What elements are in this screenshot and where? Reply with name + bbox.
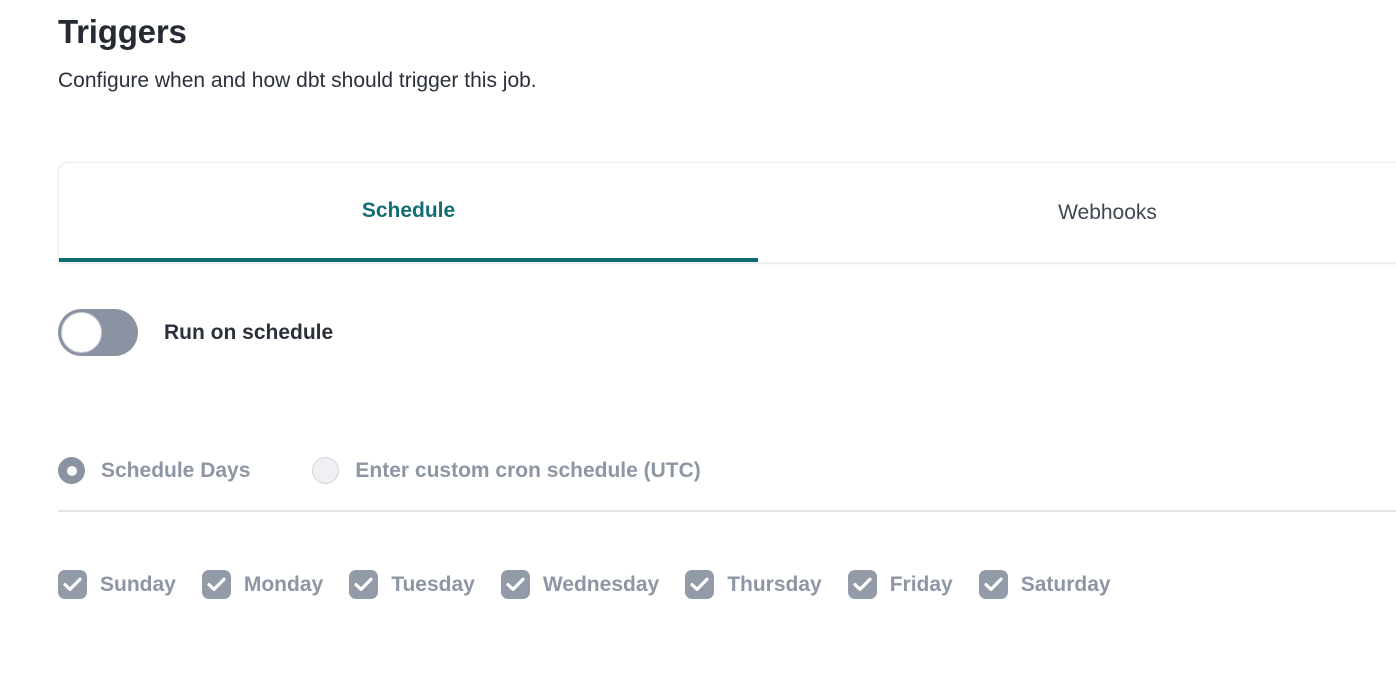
day-label-monday: Monday bbox=[244, 573, 323, 597]
toggle-knob-icon bbox=[61, 312, 102, 353]
radio-unselected-icon[interactable] bbox=[312, 457, 339, 484]
day-option-sunday[interactable]: Sunday bbox=[58, 570, 176, 599]
tab-schedule[interactable]: Schedule bbox=[59, 163, 758, 263]
page-subtitle: Configure when and how dbt should trigge… bbox=[58, 54, 1258, 96]
checkbox-checked-icon[interactable] bbox=[501, 570, 530, 599]
run-on-schedule-row: Run on schedule bbox=[58, 309, 333, 356]
day-label-thursday: Thursday bbox=[727, 573, 822, 597]
page-title: Triggers bbox=[58, 10, 1258, 54]
run-on-schedule-toggle[interactable] bbox=[58, 309, 138, 356]
tab-strip: Schedule Webhooks bbox=[59, 163, 1396, 263]
day-label-wednesday: Wednesday bbox=[543, 573, 659, 597]
section-divider bbox=[58, 510, 1396, 512]
page-header: Triggers Configure when and how dbt shou… bbox=[58, 10, 1258, 96]
schedule-days-checkbox-group: Sunday Monday Tuesday Wednesday Thursday bbox=[58, 570, 1111, 599]
day-option-tuesday[interactable]: Tuesday bbox=[349, 570, 475, 599]
day-label-saturday: Saturday bbox=[1021, 573, 1111, 597]
radio-option-schedule-days[interactable]: Schedule Days bbox=[58, 457, 250, 484]
day-option-thursday[interactable]: Thursday bbox=[685, 570, 822, 599]
checkbox-checked-icon[interactable] bbox=[979, 570, 1008, 599]
radio-label-schedule-days: Schedule Days bbox=[101, 459, 250, 483]
day-option-wednesday[interactable]: Wednesday bbox=[501, 570, 659, 599]
checkbox-checked-icon[interactable] bbox=[349, 570, 378, 599]
day-label-friday: Friday bbox=[890, 573, 953, 597]
tab-strip-baseline bbox=[58, 262, 1396, 264]
checkbox-checked-icon[interactable] bbox=[202, 570, 231, 599]
run-on-schedule-label: Run on schedule bbox=[164, 309, 333, 356]
checkbox-checked-icon[interactable] bbox=[58, 570, 87, 599]
day-option-saturday[interactable]: Saturday bbox=[979, 570, 1111, 599]
tab-webhooks[interactable]: Webhooks bbox=[758, 163, 1396, 263]
radio-option-custom-cron[interactable]: Enter custom cron schedule (UTC) bbox=[312, 457, 700, 484]
day-option-friday[interactable]: Friday bbox=[848, 570, 953, 599]
day-label-tuesday: Tuesday bbox=[391, 573, 475, 597]
radio-selected-icon[interactable] bbox=[58, 457, 85, 484]
schedule-mode-radio-group: Schedule Days Enter custom cron schedule… bbox=[58, 457, 701, 484]
radio-label-custom-cron: Enter custom cron schedule (UTC) bbox=[355, 459, 700, 483]
day-option-monday[interactable]: Monday bbox=[202, 570, 323, 599]
day-label-sunday: Sunday bbox=[100, 573, 176, 597]
checkbox-checked-icon[interactable] bbox=[848, 570, 877, 599]
triggers-page: Triggers Configure when and how dbt shou… bbox=[0, 0, 1396, 680]
triggers-tab-card: Schedule Webhooks bbox=[58, 162, 1396, 263]
checkbox-checked-icon[interactable] bbox=[685, 570, 714, 599]
